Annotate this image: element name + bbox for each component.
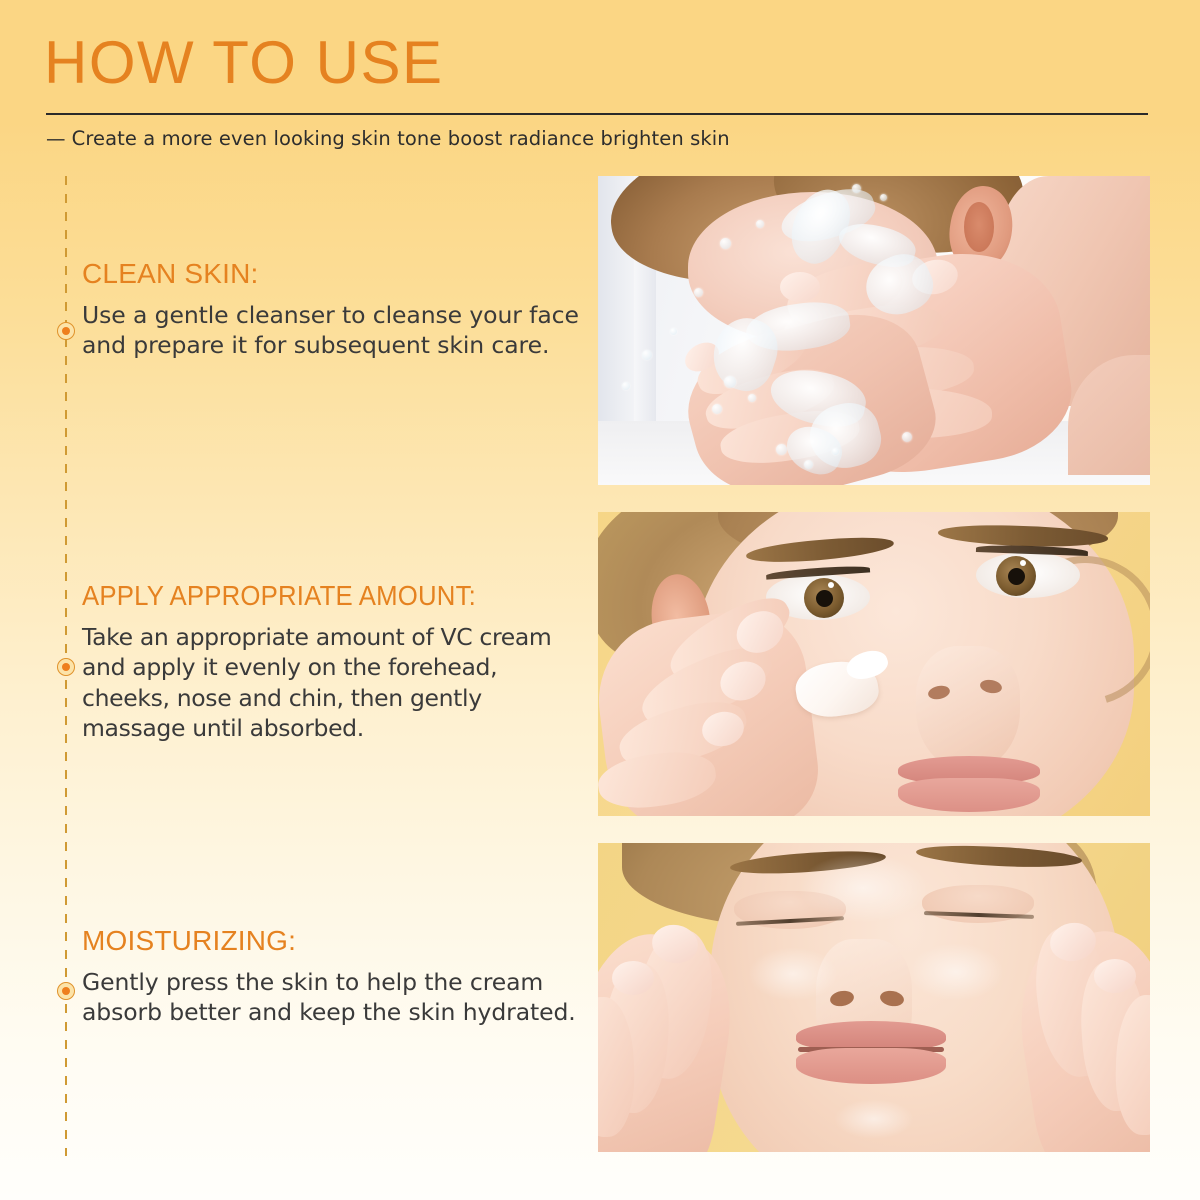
step-1-title: CLEAN SKIN:	[82, 258, 582, 289]
photo2-lower-lip	[898, 778, 1040, 812]
photo3-skin-highlight	[748, 947, 838, 1001]
photo1-water-drop	[776, 444, 787, 455]
photo1-water-drop	[852, 184, 861, 193]
photo1-water-drop	[622, 382, 630, 390]
photo3-lower-lip	[796, 1048, 946, 1084]
photo2-pupil-left	[816, 590, 833, 607]
step-2-title: APPLY APPROPRIATE AMOUNT:	[82, 580, 542, 611]
photo1-water-drop	[804, 460, 813, 469]
photo1-water-drop	[832, 448, 839, 455]
photo1-nail	[780, 272, 820, 302]
photo1-water-drop	[748, 394, 756, 402]
step-3-title: MOISTURIZING:	[82, 925, 582, 956]
step-3-photo	[598, 843, 1150, 1152]
step-3-body: Gently press the skin to help the cream …	[82, 967, 582, 1027]
photo1-water-drop	[880, 194, 887, 201]
photo3-nail	[612, 961, 654, 995]
photo3-skin-highlight	[798, 853, 928, 923]
photo3-skin-highlight	[834, 1099, 914, 1139]
photo2-nose	[916, 646, 1020, 770]
timeline-bullet-icon-1	[57, 322, 75, 340]
timeline-bullet-icon-3	[57, 982, 75, 1000]
photo3-nail	[1094, 959, 1136, 993]
photo1-water-drop	[724, 376, 736, 388]
title-divider	[46, 113, 1148, 115]
photo1-water-drop	[670, 328, 677, 335]
photo2-eye-glint-right	[1020, 560, 1026, 566]
photo1-water-drop	[902, 432, 912, 442]
page-title: HOW TO USE	[44, 33, 444, 93]
em-dash-icon: —	[46, 127, 66, 150]
photo1-water-drop	[694, 288, 703, 297]
step-1-body: Use a gentle cleanser to cleanse your fa…	[82, 300, 582, 360]
step-2-photo	[598, 512, 1150, 816]
photo1-water-drop	[756, 220, 764, 228]
step-3-text: MOISTURIZING: Gently press the skin to h…	[82, 925, 582, 1028]
photo2-eye-glint-left	[828, 582, 834, 588]
subtitle-text: Create a more even looking skin tone boo…	[72, 127, 730, 150]
step-1-text: CLEAN SKIN: Use a gentle cleanser to cle…	[82, 258, 582, 361]
step-1-photo	[598, 176, 1150, 485]
photo3-skin-highlight	[908, 943, 1004, 1001]
step-2-body: Take an appropriate amount of VC cream a…	[82, 622, 582, 742]
photo2-pupil-right	[1008, 568, 1025, 585]
subtitle: —Create a more even looking skin tone bo…	[46, 127, 730, 150]
photo1-water-drop	[712, 404, 722, 414]
timeline-bullet-icon-2	[57, 658, 75, 676]
photo1-ear-inner	[964, 202, 994, 252]
photo1-water-drop	[720, 238, 731, 249]
photo1-water-drop	[642, 350, 652, 360]
step-2-text: APPLY APPROPRIATE AMOUNT: Take an approp…	[82, 580, 582, 743]
